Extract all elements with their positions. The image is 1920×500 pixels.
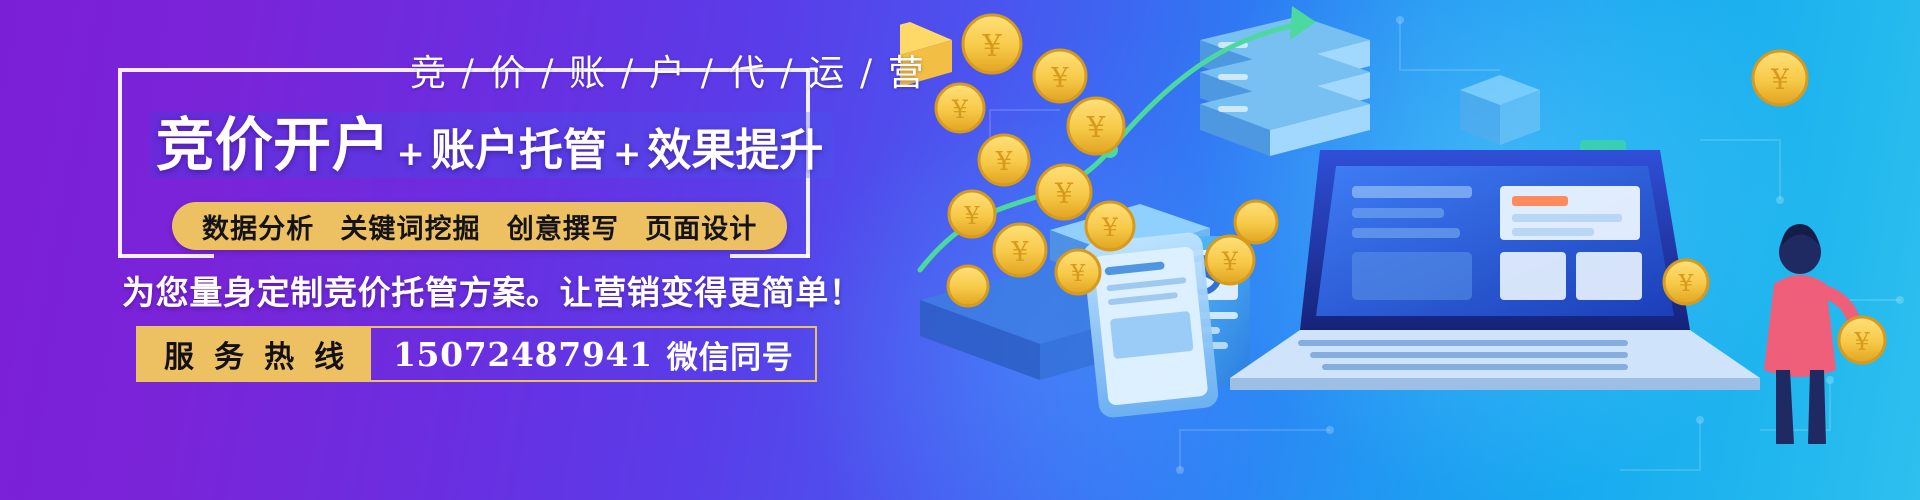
hotline-value[interactable]: 15072487941 微信同号 (371, 328, 815, 380)
eyebrow-tagline: 竞 / 价 / 账 / 户 / 代 / 运 / 营 (410, 44, 926, 96)
decorative-bracket-bottom-left (118, 254, 214, 258)
headline-part-1: 竞价开户 (156, 116, 390, 174)
headline: 竞价开户 + 账户托管 + 效果提升 (156, 116, 823, 174)
headline-plus-2: + (607, 137, 648, 171)
svg-text:¥: ¥ (1086, 110, 1106, 144)
marketing-illustration: ¥ ¥ ¥ ¥ ¥ (900, 0, 1920, 500)
smartphone-graphic (1082, 231, 1220, 419)
svg-text:¥: ¥ (963, 202, 980, 230)
promo-banner: ¥ ¥ ¥ ¥ ¥ (0, 0, 1920, 500)
hotline-wechat-note: 微信同号 (653, 332, 794, 377)
services-pill: 数据分析 关键词挖掘 创意撰写 页面设计 (172, 202, 787, 250)
svg-text:¥: ¥ (1853, 328, 1870, 356)
person-with-coin-graphic: ¥ (1764, 224, 1885, 444)
headline-part-3: 效果提升 (647, 129, 823, 173)
headline-plus-1: + (390, 137, 431, 171)
svg-text:¥: ¥ (1770, 63, 1789, 96)
hotline-bar[interactable]: 服 务 热 线 15072487941 微信同号 (136, 326, 817, 382)
hotline-number: 15072487941 (393, 335, 653, 374)
svg-text:¥: ¥ (1678, 271, 1694, 297)
svg-text:¥: ¥ (1050, 63, 1069, 94)
banner-copy-block: 竞 / 价 / 账 / 户 / 代 / 运 / 营 竞价开户 + 账户托管 + … (0, 0, 960, 500)
service-item-data-analysis: 数据分析 (202, 207, 314, 246)
svg-text:¥: ¥ (1054, 177, 1073, 210)
headline-strip: 竞价开户 + 账户托管 + 效果提升 (150, 112, 833, 178)
hotline-label: 服 务 热 线 (138, 328, 371, 380)
svg-text:¥: ¥ (981, 29, 1002, 64)
headline-part-2: 账户托管 (431, 129, 607, 173)
svg-text:¥: ¥ (1070, 261, 1086, 287)
svg-text:¥: ¥ (1010, 237, 1029, 268)
decorative-bracket-bottom-right (730, 254, 810, 258)
svg-text:¥: ¥ (995, 147, 1013, 177)
subtitle-text: 为您量身定制竞价托管方案。让营销变得更简单！ (122, 266, 863, 314)
service-item-page-design: 页面设计 (645, 207, 757, 246)
server-rack-graphic (1200, 16, 1370, 156)
service-item-keyword-mining: 关键词挖掘 (340, 207, 480, 246)
svg-text:¥: ¥ (1101, 213, 1118, 242)
svg-text:¥: ¥ (1221, 247, 1238, 276)
service-item-creative-copy: 创意撰写 (507, 207, 619, 246)
